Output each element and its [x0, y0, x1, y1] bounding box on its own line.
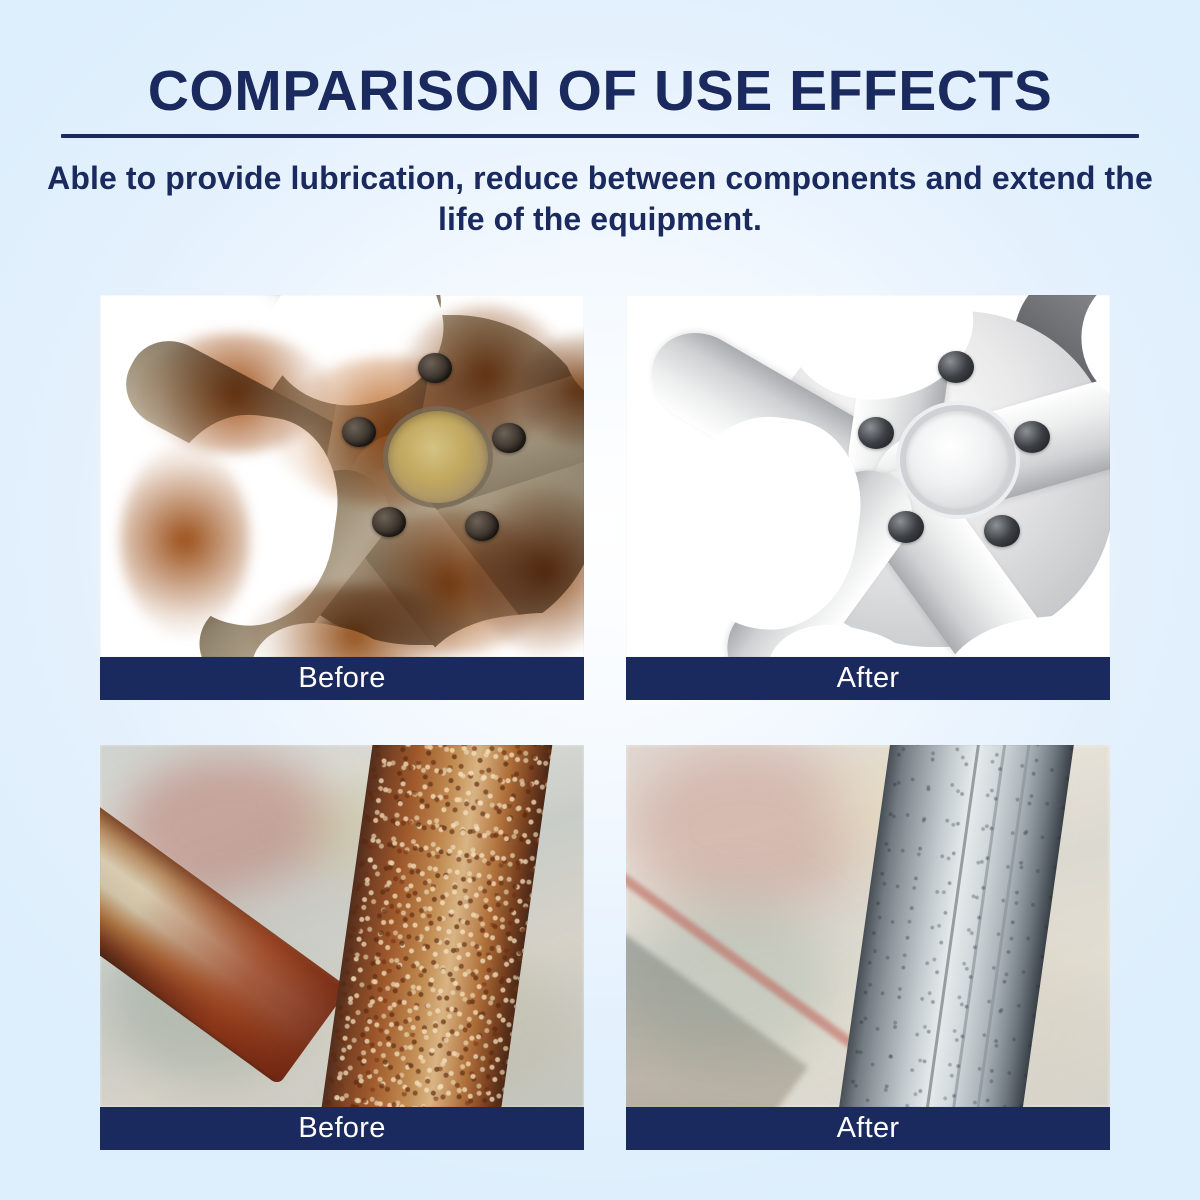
photo-rusted-pipe [100, 745, 584, 1107]
comparison-card-pipe-before: Before [100, 745, 584, 1150]
label-bar-before: Before [100, 657, 584, 700]
wheel-center-cap [906, 411, 1010, 509]
rust-patch [120, 445, 250, 635]
title-divider [61, 134, 1139, 138]
clean-pipe-illustration [626, 745, 1110, 1107]
comparison-grid: Before [100, 295, 1110, 1150]
lug-nut [938, 351, 974, 383]
label-bar-after: After [626, 657, 1110, 700]
comparison-card-wheel-after: After [626, 295, 1110, 700]
lug-nut [888, 511, 924, 543]
page-subtitle: Able to provide lubrication, reduce betw… [45, 158, 1155, 241]
comparison-card-wheel-before: Before [100, 295, 584, 700]
lug-nut [492, 423, 526, 453]
lug-nut [984, 515, 1020, 547]
header: COMPARISON OF USE EFFECTS Able to provid… [0, 62, 1200, 241]
label-bar-before: Before [100, 1107, 584, 1150]
clean-wheel-illustration [626, 295, 1110, 657]
lug-nut [372, 507, 406, 537]
photo-rusted-wheel [100, 295, 584, 657]
photo-clean-pipe [626, 745, 1110, 1107]
lug-nut [465, 511, 499, 541]
comparison-card-pipe-after: After [626, 745, 1110, 1150]
photo-clean-wheel [626, 295, 1110, 657]
lug-nut [342, 417, 376, 447]
rusted-pipe-illustration [100, 745, 584, 1107]
lug-nut [1014, 421, 1050, 453]
label-bar-after: After [626, 1107, 1110, 1150]
rusted-wheel-illustration [100, 295, 584, 657]
wheel-center-cap [388, 411, 488, 503]
lug-nut [858, 417, 894, 449]
lug-nut [418, 353, 452, 383]
page-title: COMPARISON OF USE EFFECTS [0, 62, 1200, 122]
